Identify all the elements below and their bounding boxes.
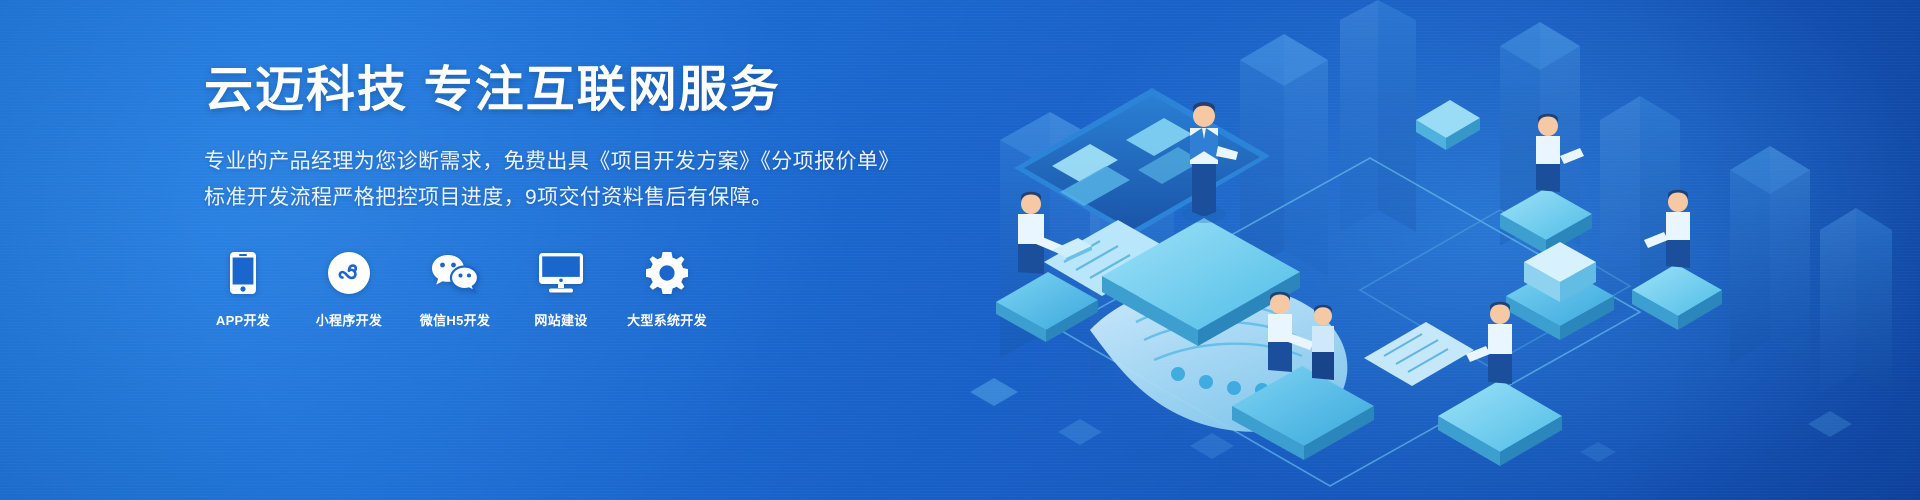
service-label-mini-program: 小程序开发 <box>316 310 383 329</box>
gear-icon <box>646 250 688 296</box>
banner-headline: 云迈科技 专注互联网服务 <box>204 62 964 120</box>
banner-subtitle: 专业的产品经理为您诊断需求，免费出具《项目开发方案》《分项报价单》 标准开发流程… <box>204 144 964 216</box>
mini-panel-upper-right <box>1416 100 1480 150</box>
monitor-icon <box>539 250 583 296</box>
subtitle-line-2: 标准开发流程严格把控项目进度，9项交付资料售后有保障。 <box>204 180 964 216</box>
service-label-wechat: 微信H5开发 <box>420 310 490 329</box>
hero-banner: 云迈科技 专注互联网服务 专业的产品经理为您诊断需求，免费出具《项目开发方案》《… <box>0 0 1920 500</box>
hero-illustration <box>940 0 1920 500</box>
service-label-app: APP开发 <box>216 310 270 329</box>
service-item-website[interactable]: 网站建设 <box>522 250 600 329</box>
mobile-phone-icon <box>230 250 256 296</box>
banner-content: 云迈科技 专注互联网服务 专业的产品经理为您诊断需求，免费出具《项目开发方案》《… <box>204 62 964 329</box>
floating-diamonds <box>970 378 1852 462</box>
service-item-wechat[interactable]: 微信H5开发 <box>416 250 494 329</box>
service-list: APP开发 小程序开发 <box>204 250 964 329</box>
cube-stack <box>1506 242 1614 340</box>
service-label-system: 大型系统开发 <box>627 310 707 329</box>
service-item-mini-program[interactable]: 小程序开发 <box>310 250 388 329</box>
floating-card-panel <box>1364 322 1474 386</box>
service-item-app[interactable]: APP开发 <box>204 250 282 329</box>
wechat-icon <box>431 250 479 296</box>
service-label-website: 网站建设 <box>534 310 587 329</box>
subtitle-line-1: 专业的产品经理为您诊断需求，免费出具《项目开发方案》《分项报价单》 <box>204 144 964 180</box>
mini-program-icon <box>328 250 370 296</box>
service-item-system[interactable]: 大型系统开发 <box>628 250 706 329</box>
